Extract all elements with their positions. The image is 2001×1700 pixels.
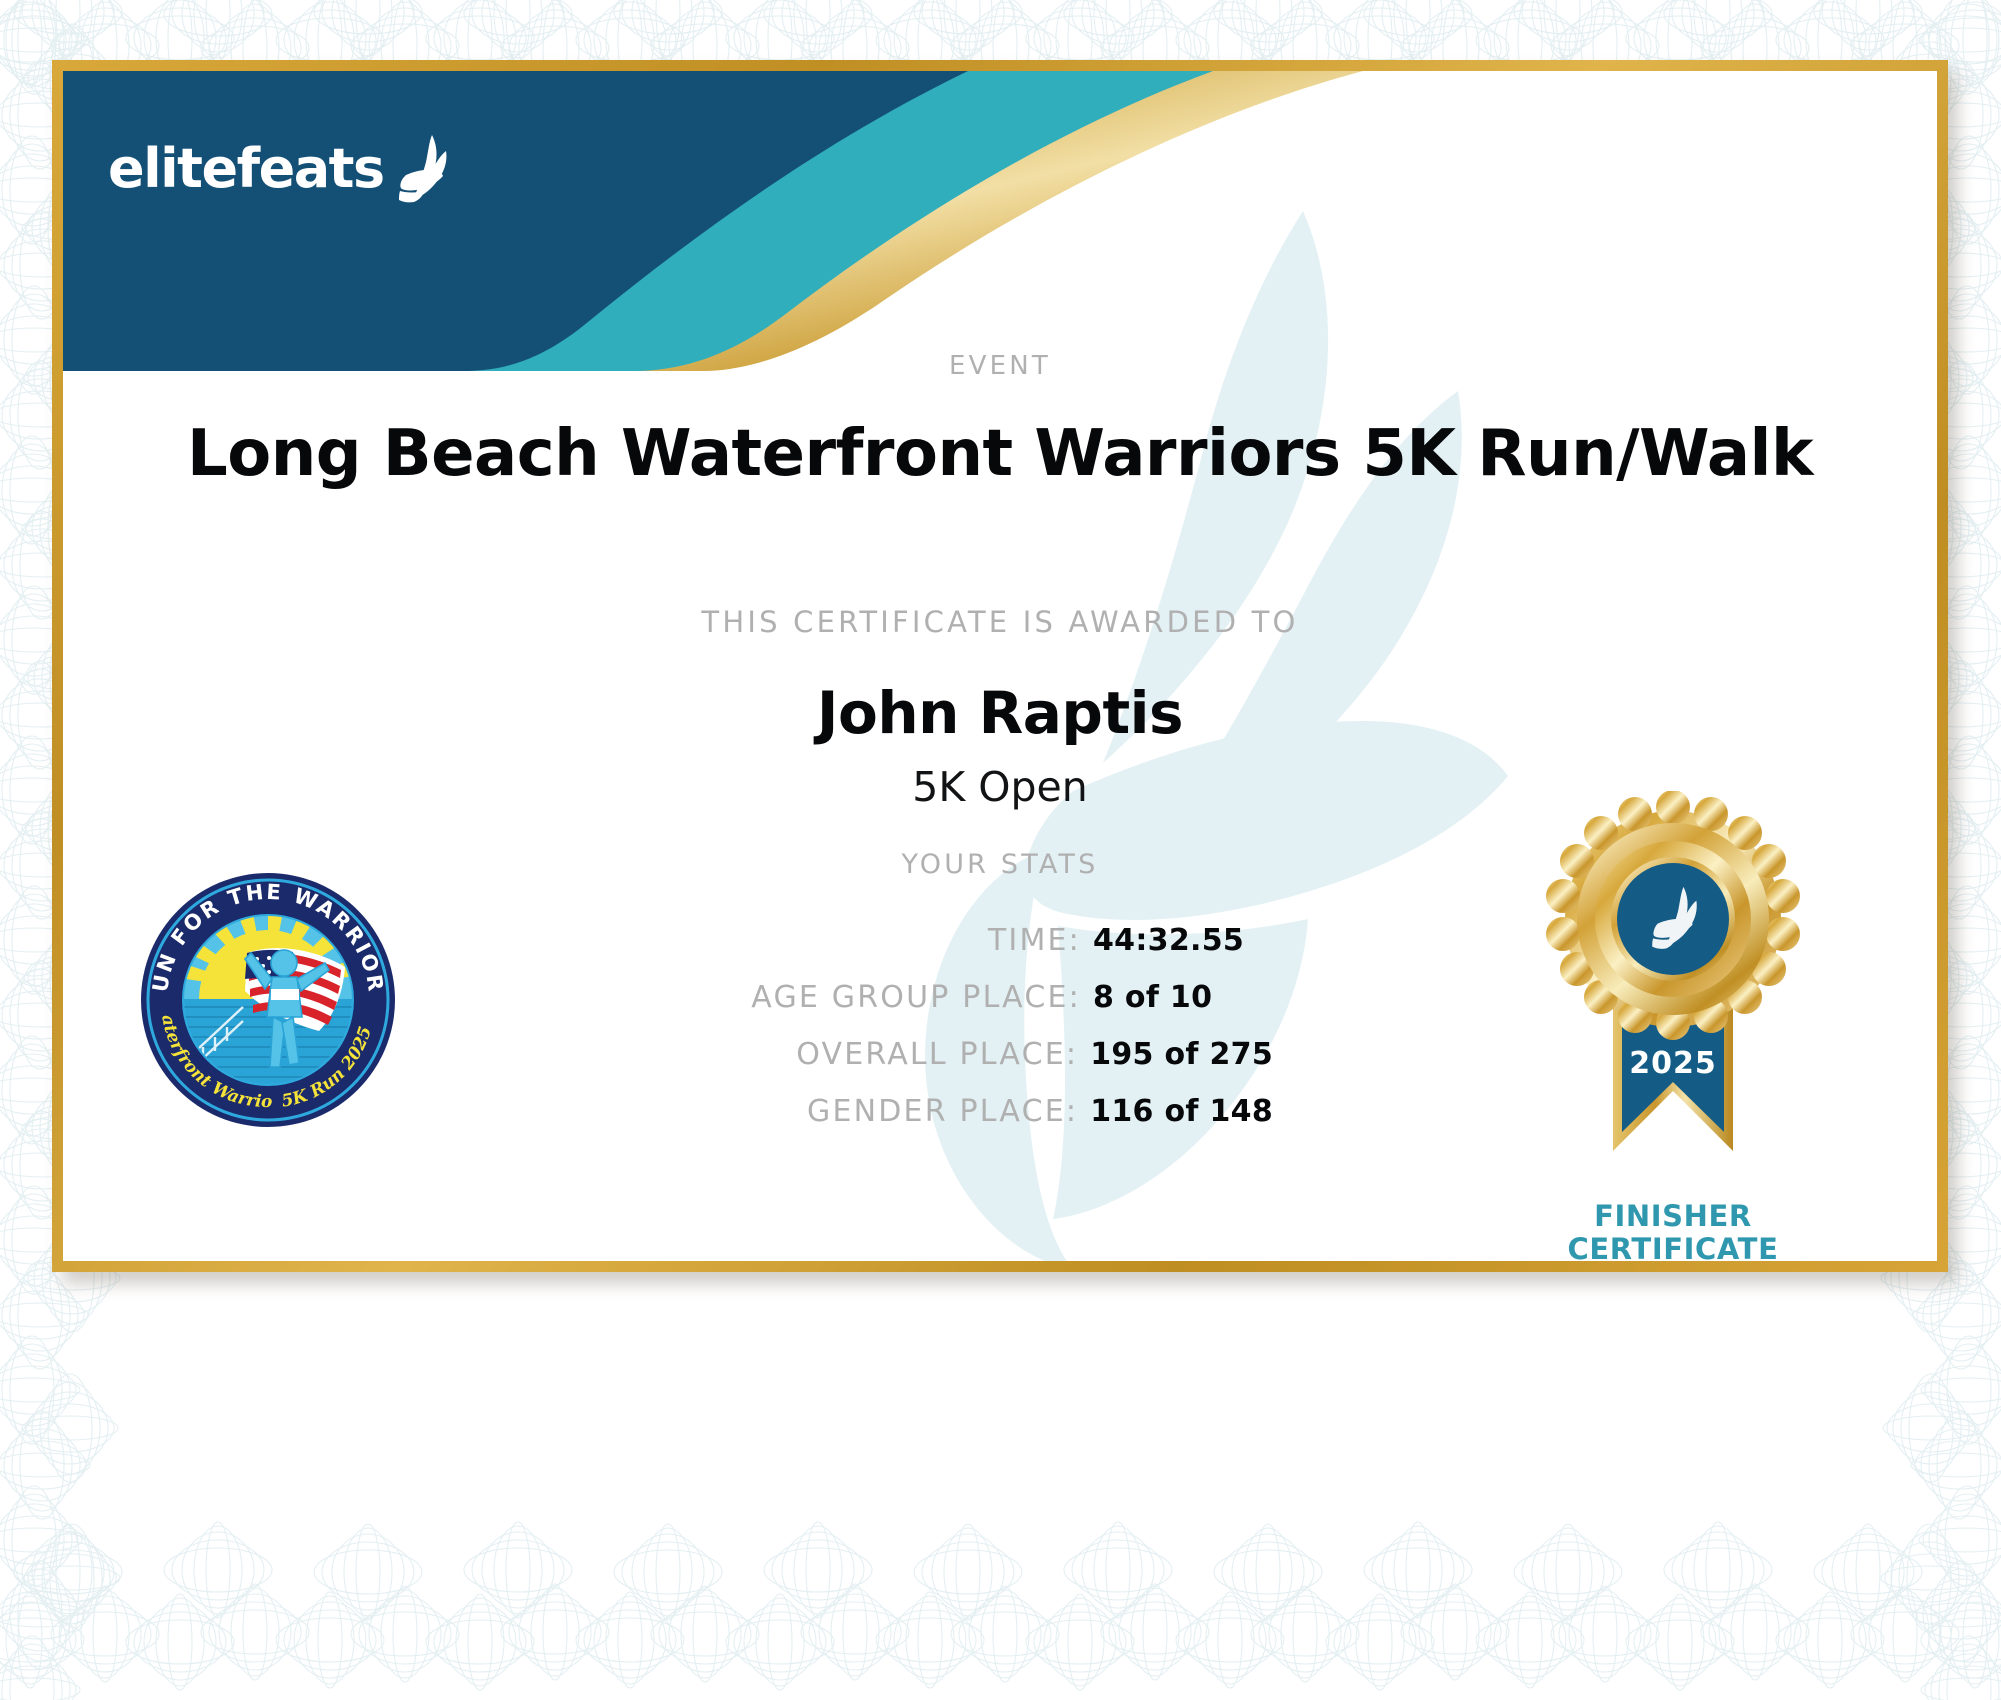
stat-label: TIME: — [988, 923, 1081, 958]
awarded-label: THIS CERTIFICATE IS AWARDED TO — [63, 605, 1937, 639]
stat-label: GENDER PLACE: — [807, 1094, 1078, 1129]
event-label: EVENT — [63, 351, 1937, 381]
awarded-section: THIS CERTIFICATE IS AWARDED TO John Rapt… — [63, 605, 1937, 811]
certificate-body: elitefeats EVENT Long Beach Waterfront W… — [63, 71, 1937, 1261]
finisher-medal: 2025 — [1503, 791, 1843, 1261]
certificate-page: elitefeats EVENT Long Beach Waterfront W… — [0, 0, 2001, 1700]
medal-caption-line1: FINISHER — [1503, 1200, 1843, 1233]
stat-label: AGE GROUP PLACE: — [751, 980, 1081, 1015]
certificate-frame: elitefeats EVENT Long Beach Waterfront W… — [52, 60, 1948, 1272]
recipient-name: John Raptis — [63, 679, 1937, 747]
finisher-medal-icon: 2025 — [1543, 791, 1803, 1191]
medal-caption: FINISHER CERTIFICATE — [1503, 1200, 1843, 1261]
event-section: EVENT Long Beach Waterfront Warriors 5K … — [63, 351, 1937, 491]
medal-caption-line2: CERTIFICATE — [1503, 1233, 1843, 1261]
run-for-the-warriors-badge-icon: RUN FOR THE WARRIORS Waterfront Warriors… — [139, 871, 397, 1129]
stat-value: 195 of 275 — [1090, 1037, 1273, 1072]
stat-value: 44:32.55 — [1093, 923, 1273, 958]
medal-year: 2025 — [1629, 1046, 1717, 1081]
stat-value: 8 of 10 — [1093, 980, 1273, 1015]
stat-value: 116 of 148 — [1090, 1094, 1273, 1129]
event-title: Long Beach Waterfront Warriors 5K Run/Wa… — [63, 417, 1937, 491]
stat-label: OVERALL PLACE: — [796, 1037, 1078, 1072]
